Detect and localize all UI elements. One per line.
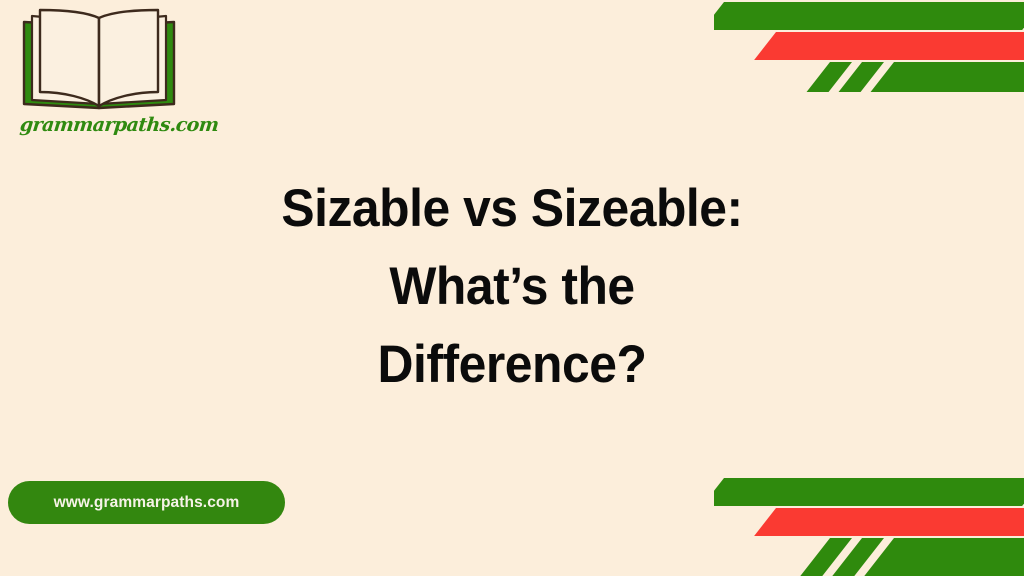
title-line-3: Difference? <box>31 326 994 404</box>
page-title: Sizable vs Sizeable: What’s the Differen… <box>0 170 1024 404</box>
green-upper-bar <box>714 478 1024 506</box>
red-middle-bar <box>754 508 1024 536</box>
website-url-badge[interactable]: www.grammarpaths.com <box>8 481 285 524</box>
green-lower-bar <box>871 62 1024 92</box>
brand-logo[interactable]: grammarpaths.com <box>16 4 206 150</box>
bottom-right-chevron-stripes <box>714 466 1024 576</box>
brand-wordmark: grammarpaths.com <box>19 114 201 136</box>
slide-canvas: grammarpaths.com Sizable vs Sizeable: Wh… <box>0 0 1024 576</box>
green-lower-bar <box>864 538 1024 576</box>
website-url-label: www.grammarpaths.com <box>54 494 240 512</box>
top-right-chevron-stripes <box>714 0 1024 110</box>
open-book-icon <box>16 4 182 112</box>
title-line-2: What’s the <box>31 248 994 326</box>
red-middle-bar <box>754 32 1024 60</box>
green-upper-bar <box>714 2 1024 30</box>
title-line-1: Sizable vs Sizeable: <box>31 170 994 248</box>
